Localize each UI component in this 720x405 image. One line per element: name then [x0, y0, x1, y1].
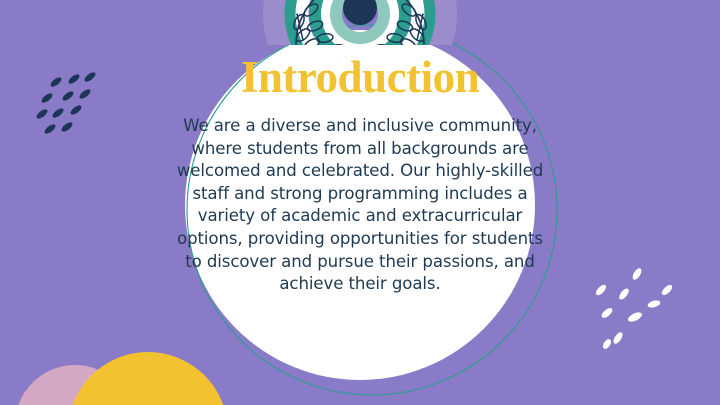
body-paragraph: We are a diverse and inclusive community…: [173, 115, 547, 296]
yellow-accent-circle: [68, 352, 228, 405]
white-dash-cluster: [594, 267, 674, 351]
page-title: Introduction: [0, 55, 720, 100]
presentation-slide: Introduction We are a diverse and inclus…: [0, 0, 720, 405]
